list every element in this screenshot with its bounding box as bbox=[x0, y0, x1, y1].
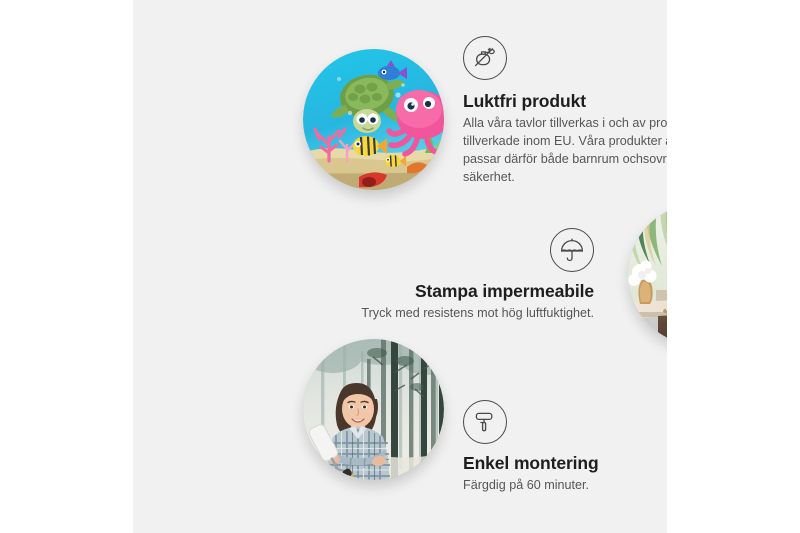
feature-body: Tryck med resistens mot hög luftfuktighe… bbox=[313, 305, 594, 323]
bathroom-tropical-wallpaper-photo bbox=[628, 204, 667, 345]
umbrella-glyph bbox=[559, 237, 585, 263]
woman-paint-roller-forest-photo bbox=[303, 339, 444, 480]
umbrella-icon bbox=[550, 228, 594, 272]
no-odour-perfume-bottle-icon bbox=[463, 36, 507, 80]
paint-roller-glyph bbox=[472, 409, 498, 435]
underwater-kids-scene-photo bbox=[303, 49, 444, 190]
underwater-scene-artwork bbox=[303, 49, 444, 190]
bathroom-artwork bbox=[628, 204, 667, 345]
feature-odour-free: Luktfri produkt Alla våra tavlor tillver… bbox=[463, 36, 667, 187]
feature-title: Stampa impermeabile bbox=[313, 281, 594, 302]
feature-title: Enkel montering bbox=[463, 453, 667, 474]
feature-waterproof: Stampa impermeabile Tryck med resistens … bbox=[313, 228, 594, 323]
paint-roller-icon bbox=[463, 400, 507, 444]
feature-title: Luktfri produkt bbox=[463, 91, 667, 112]
feature-easy-mounting: Enkel montering Färgdig på 60 minuter. bbox=[463, 400, 667, 495]
feature-body: Färgdig på 60 minuter. bbox=[463, 477, 667, 495]
feature-body: Alla våra tavlor tillverkas i och av pro… bbox=[463, 115, 667, 187]
no-odour-glyph bbox=[472, 45, 498, 71]
content-panel: Luktfri produkt Alla våra tavlor tillver… bbox=[133, 0, 667, 533]
forest-painter-artwork bbox=[303, 339, 444, 480]
screenshot-root: Luktfri produkt Alla våra tavlor tillver… bbox=[0, 0, 800, 533]
